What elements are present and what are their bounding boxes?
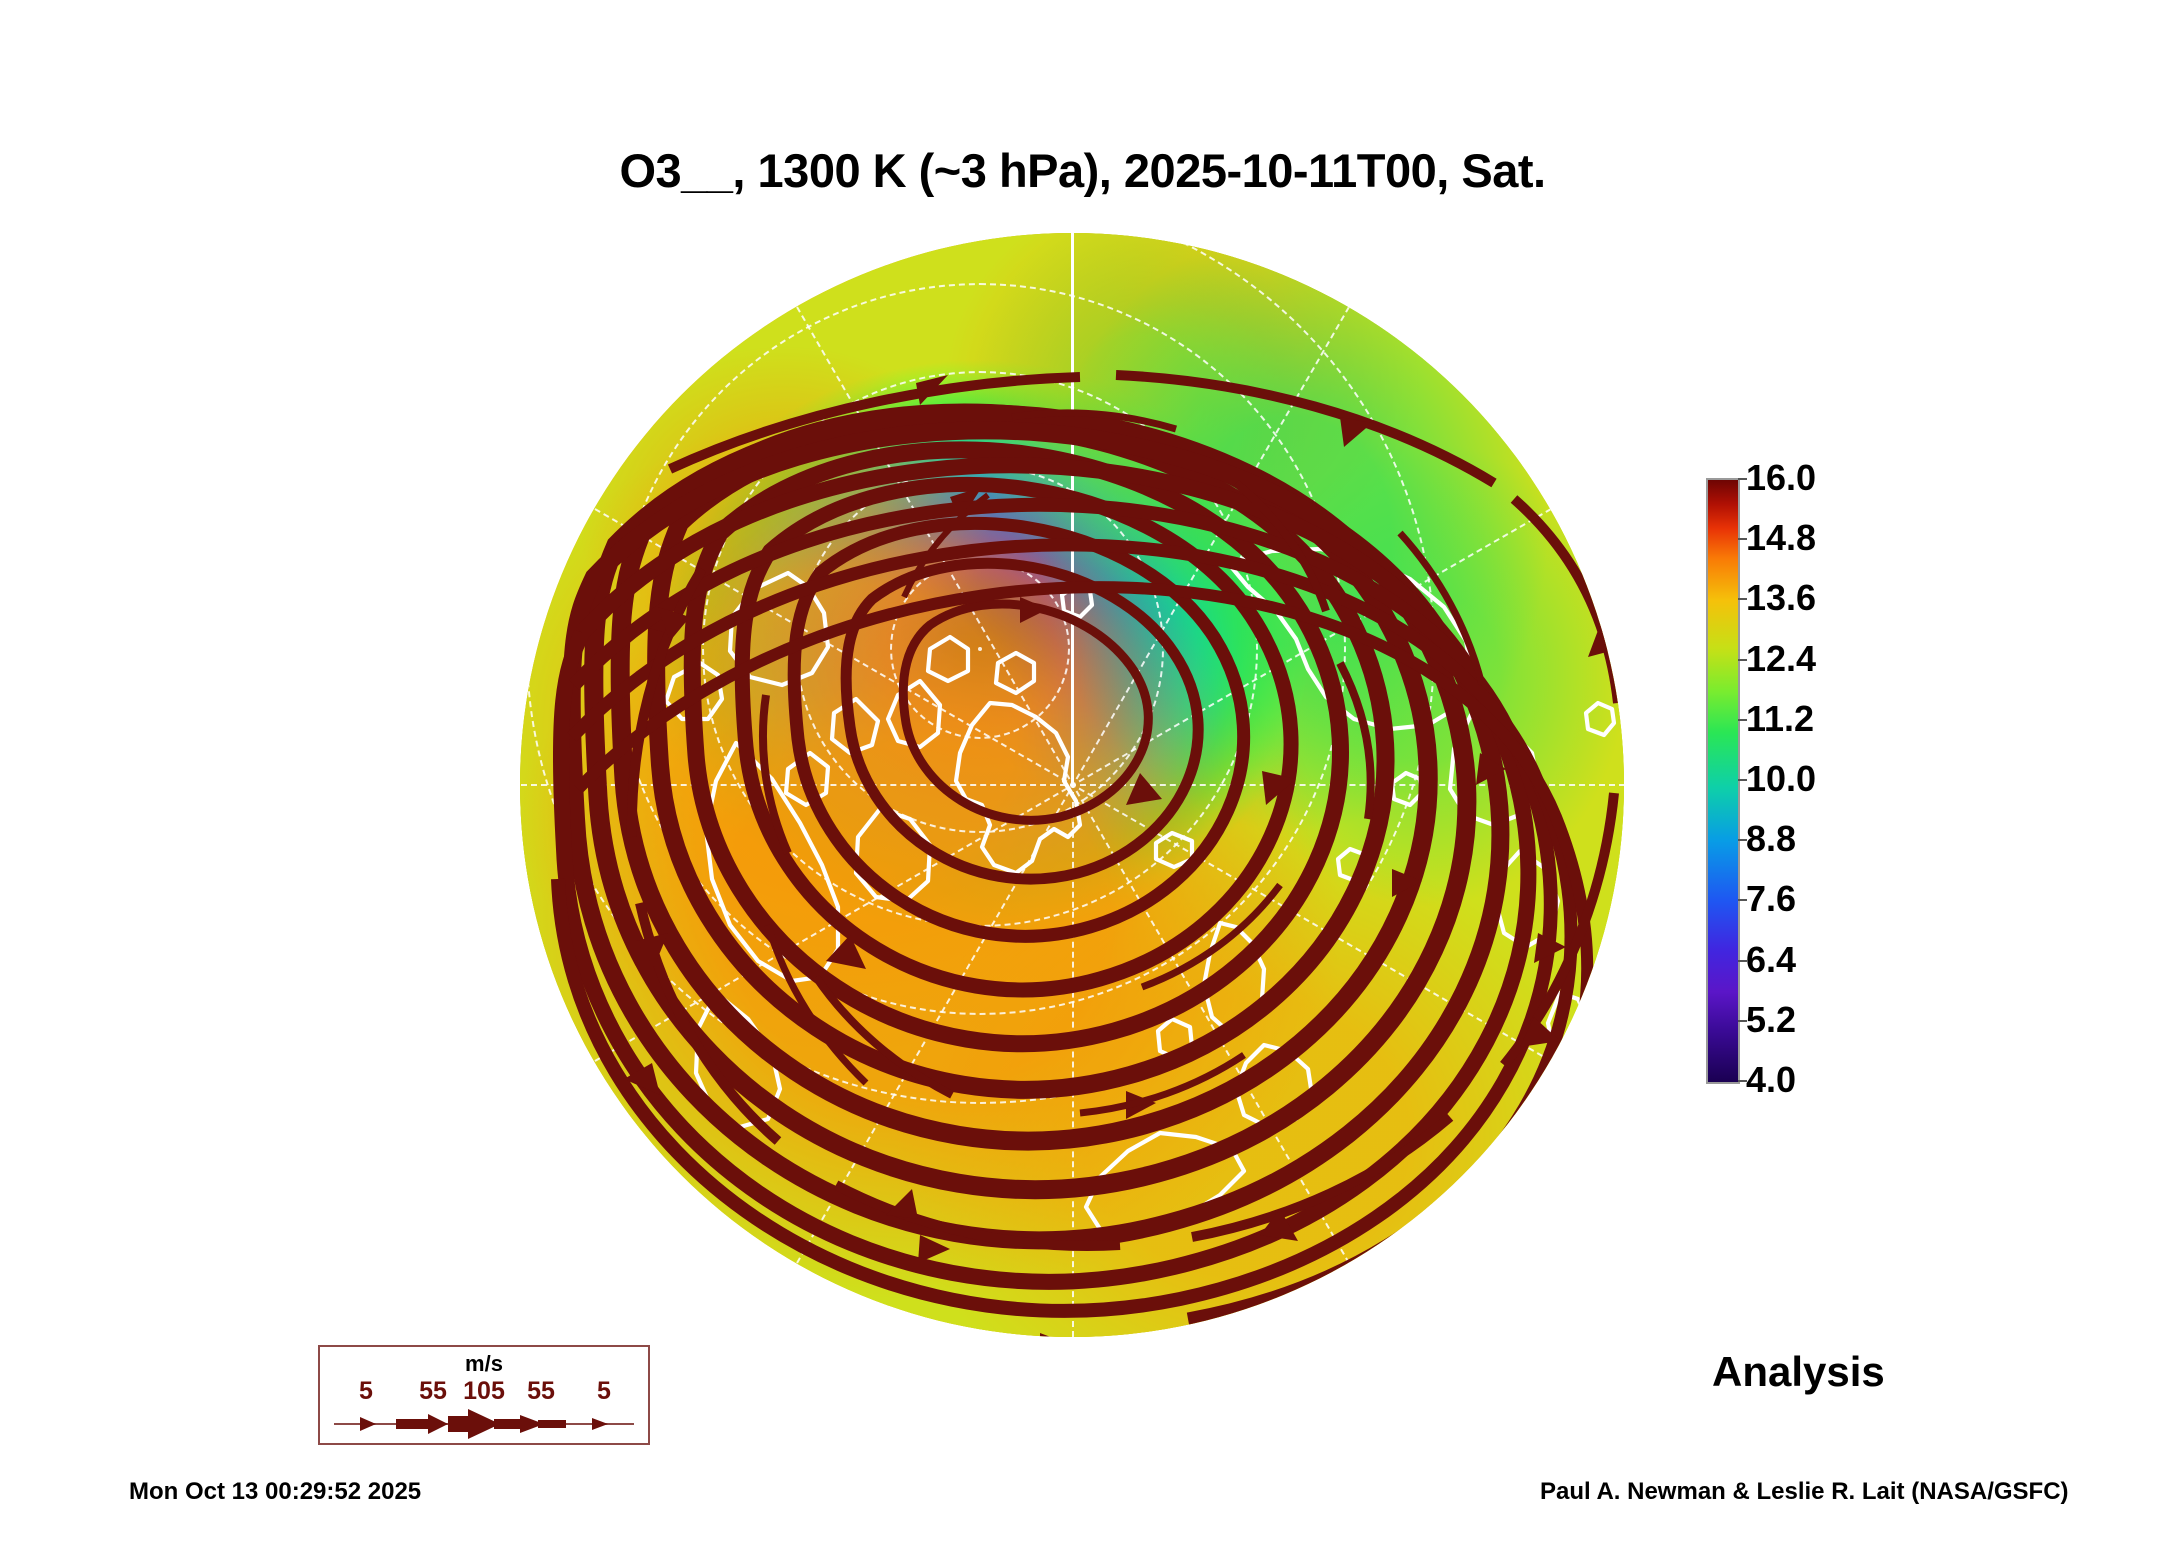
- colorbar-label: 5.2: [1746, 999, 1796, 1041]
- wind-value-label: 55: [527, 1377, 555, 1406]
- wind-value-label: 105: [463, 1377, 505, 1406]
- colorbar-gradient: [1706, 478, 1740, 1084]
- globe-clip: [520, 233, 1624, 1337]
- colorbar-label: 11.2: [1746, 698, 1814, 740]
- colorbar-label: 13.6: [1746, 577, 1816, 619]
- wind-arrow-scale: [320, 1407, 648, 1441]
- polar-map[interactable]: [520, 233, 1624, 1337]
- generation-timestamp: Mon Oct 13 00:29:52 2025: [129, 1478, 421, 1506]
- author-credit: Paul A. Newman & Leslie R. Lait (NASA/GS…: [1540, 1478, 2069, 1506]
- colorbar-label: 4.0: [1746, 1059, 1796, 1101]
- colorbar-label: 6.4: [1746, 939, 1796, 981]
- colorbar-label: 14.8: [1746, 517, 1816, 559]
- colorbar-label: 7.6: [1746, 878, 1796, 920]
- wind-value-label: 5: [597, 1377, 611, 1406]
- colorbar-label: 10.0: [1746, 758, 1816, 800]
- page-title: O3__, 1300 K (~3 hPa), 2025-10-11T00, Sa…: [0, 143, 2165, 198]
- wind-value-label: 55: [419, 1377, 447, 1406]
- colorbar-label: 8.8: [1746, 818, 1796, 860]
- wind-speed-legend: m/s 5 55 105 55 5: [318, 1345, 650, 1445]
- analysis-label: Analysis: [1712, 1348, 1885, 1396]
- figure-canvas: O3__, 1300 K (~3 hPa), 2025-10-11T00, Sa…: [0, 0, 2165, 1561]
- colorbar-label: 12.4: [1746, 638, 1816, 680]
- wind-unit-label: m/s: [320, 1351, 648, 1377]
- wind-streamlines: [520, 233, 1624, 1337]
- wind-value-label: 5: [359, 1377, 373, 1406]
- colorbar-label: 16.0: [1746, 457, 1816, 499]
